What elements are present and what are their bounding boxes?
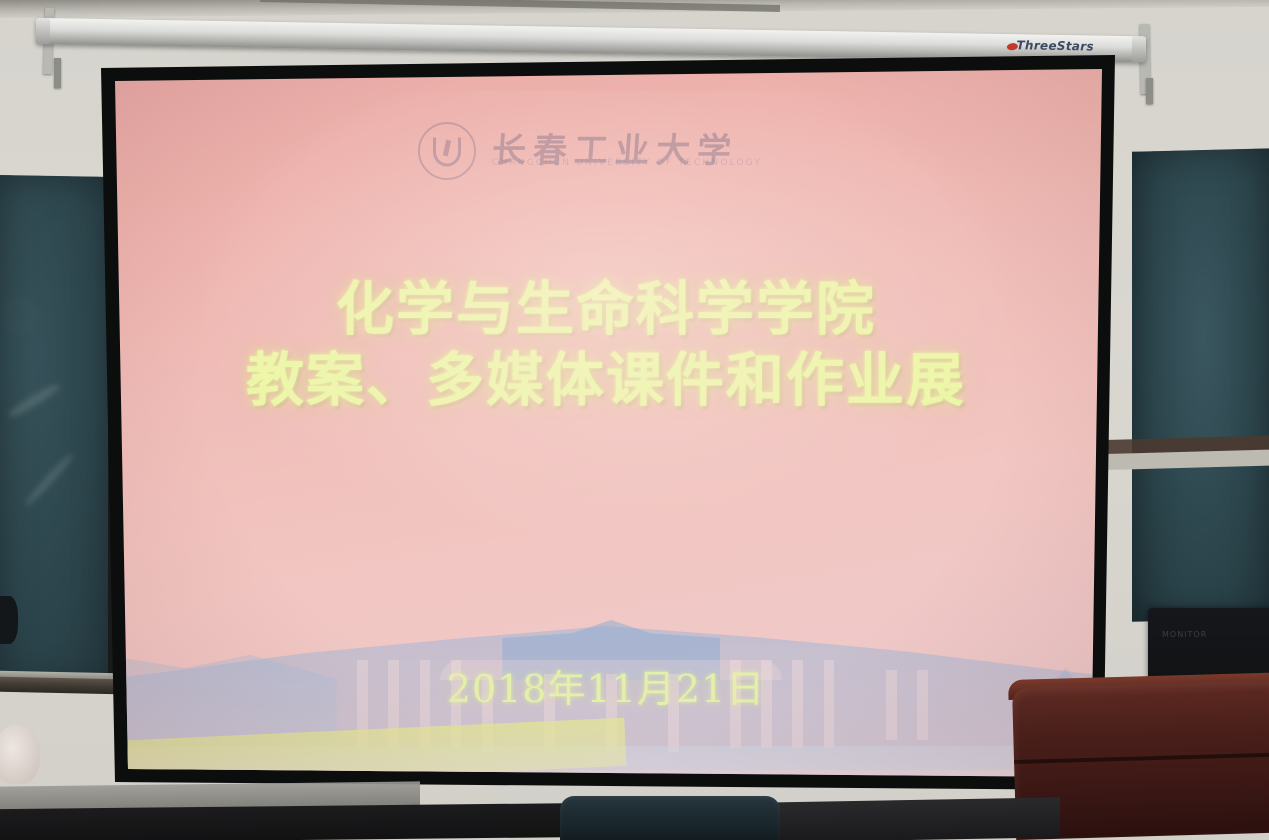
screen-bracket-right-lower [1146, 78, 1153, 104]
slide-surface: 长春工业大学 CHANGCHUN UNIVERSITY OF TECHNOLOG… [88, 46, 1124, 798]
university-name-en: CHANGCHUN UNIVERSITY OF TECHNOLOGY [492, 158, 762, 168]
slide-title-line-1: 化学与生命科学学院 [88, 274, 1124, 345]
slide-date: 2018年11月21日 [88, 658, 1124, 713]
roller-cap-right [1132, 36, 1146, 62]
classroom-scene: ThreeStars 长春工业大学 CHANGCHUN UNIVERSITY O… [0, 0, 1269, 840]
screen-bracket-left-lower [54, 58, 61, 88]
university-logo: 长春工业大学 [418, 118, 818, 184]
floor-shadow [760, 797, 1060, 840]
slide-title-block: 化学与生命科学学院 教案、多媒体课件和作业展 [88, 274, 1124, 416]
foreground-object [0, 724, 40, 784]
university-seal-icon [418, 122, 476, 180]
roller-cap-left [36, 18, 50, 44]
slide-title-line-2: 教案、多媒体课件和作业展 [88, 345, 1124, 416]
monitor-brand-label: MONITOR [1162, 630, 1207, 639]
projection-screen[interactable]: 长春工业大学 CHANGCHUN UNIVERSITY OF TECHNOLOG… [88, 46, 1124, 798]
blackboard-right [1132, 148, 1269, 621]
wall-fixture [0, 596, 18, 644]
chair-back [560, 796, 780, 840]
front-desk-dark [0, 803, 600, 840]
